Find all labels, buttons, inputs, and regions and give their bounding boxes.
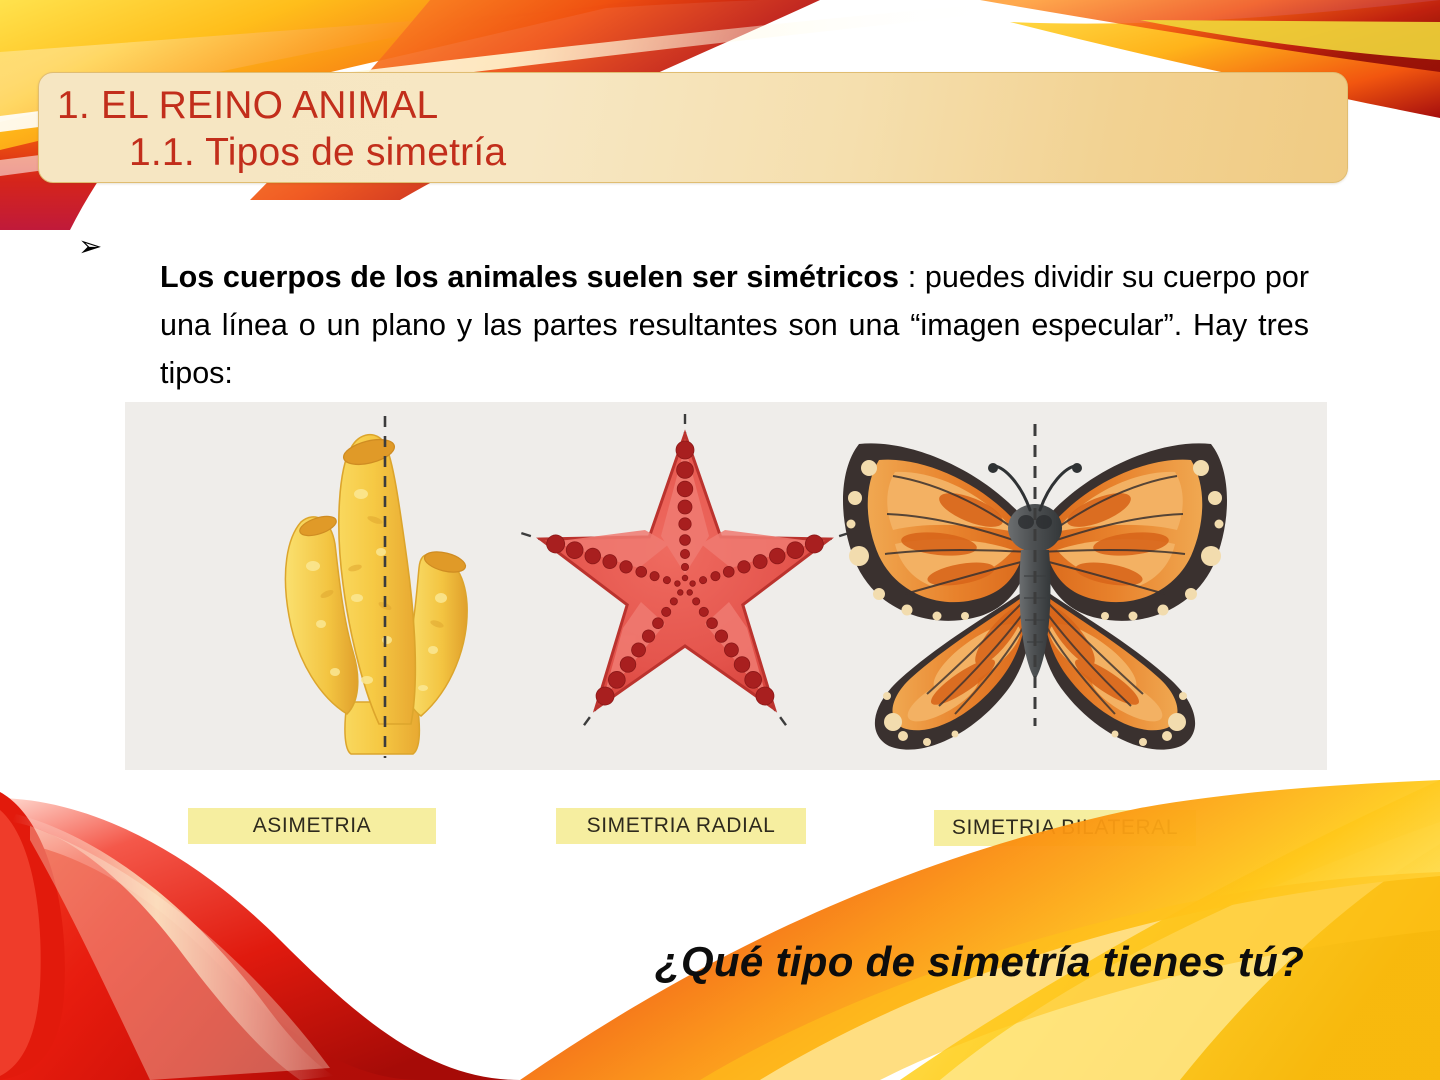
figure-butterfly-bilateral — [825, 402, 1245, 770]
figure-starfish-radial — [505, 402, 865, 770]
slide-canvas: 1. EL REINO ANIMAL 1.1. Tipos de simetrí… — [0, 0, 1440, 1080]
paragraph-lead-bold: Los cuerpos de los animales suelen ser s… — [160, 260, 899, 294]
body-block: ➢ Los cuerpos de los animales suelen ser… — [78, 222, 1309, 427]
title-banner: 1. EL REINO ANIMAL 1.1. Tipos de simetrí… — [38, 72, 1348, 183]
caption-simetria-bilateral: SIMETRIA BILATERAL — [934, 810, 1196, 846]
figure-sponge-asymmetry — [235, 402, 535, 770]
butterfly-left-wings — [843, 443, 1035, 749]
caption-asimetria: ASIMETRIA — [188, 808, 436, 844]
page-subtitle: 1.1. Tipos de simetría — [57, 129, 1347, 176]
closing-question: ¿Qué tipo de simetría tienes tú? — [655, 938, 1304, 986]
body-paragraph: Los cuerpos de los animales suelen ser s… — [160, 253, 1309, 397]
symmetry-figure-panel — [125, 402, 1327, 770]
page-title: 1. EL REINO ANIMAL — [57, 82, 1347, 129]
butterfly-right-wings — [1035, 443, 1227, 749]
arrowhead-bullet-icon: ➢ — [78, 222, 160, 270]
caption-simetria-radial: SIMETRIA RADIAL — [556, 808, 806, 844]
